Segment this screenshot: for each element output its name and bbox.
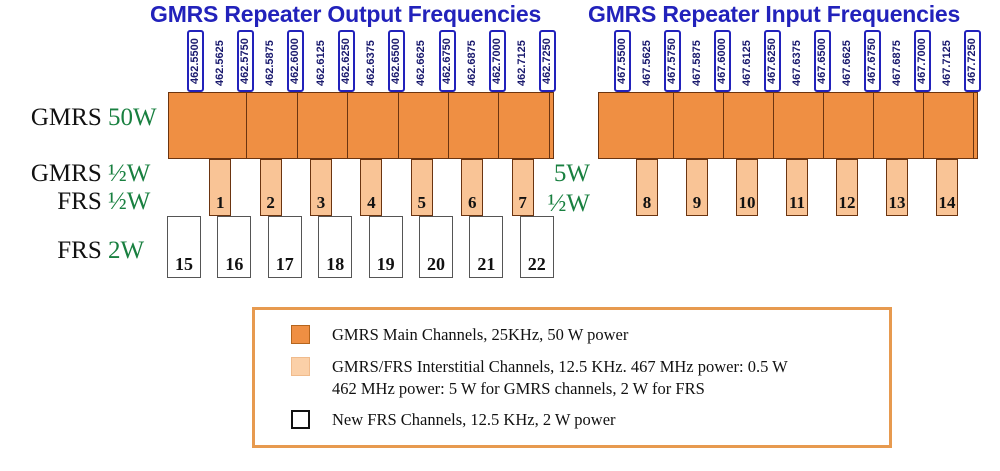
channel-number: 9 (693, 194, 702, 215)
frequency-label-main: 462.6500 (388, 30, 405, 92)
row-label-frs-2w: FRS 2W (0, 237, 160, 265)
channel-number: 16 (225, 255, 243, 277)
row-label-service: GMRS (31, 160, 102, 187)
frequency-label-main: 462.6000 (287, 30, 304, 92)
frequency-label-interstitial: 467.6625 (839, 34, 856, 92)
main-bar-divider (448, 93, 449, 158)
main-bar-divider (297, 93, 298, 158)
frs-channel-box: 20 (419, 216, 453, 278)
row-label-frs-halfw: FRS ½W (0, 188, 160, 216)
interstitial-channel-column: 6 (461, 159, 483, 216)
frequency-label-interstitial: 467.6125 (739, 34, 756, 92)
frs-channel-box: 22 (520, 216, 554, 278)
channel-number: 7 (518, 194, 527, 215)
frequency-label-interstitial: 462.6125 (313, 34, 330, 92)
channel-number: 15 (175, 255, 193, 277)
frequency-label-strip: 462.5500462.5625462.5750462.5875462.6000… (168, 30, 554, 92)
interstitial-channel-column: 12 (836, 159, 858, 216)
channel-number: 11 (789, 194, 805, 215)
channel-number: 12 (839, 194, 856, 215)
legend-label-line1: GMRS/FRS Interstitial Channels, 12.5 KHz… (332, 357, 788, 376)
channel-number: 8 (643, 194, 652, 215)
main-bar-divider (246, 93, 247, 158)
row-label-service: GMRS (31, 104, 102, 131)
interstitial-channel-column: 3 (310, 159, 332, 216)
main-bar-divider (673, 93, 674, 158)
interstitial-channel-column: 10 (736, 159, 758, 216)
frequency-label-interstitial: 462.6875 (464, 34, 481, 92)
interstitial-channel-column: 13 (886, 159, 908, 216)
frequency-label-interstitial: 467.6875 (889, 34, 906, 92)
panel-repeater-input: 467.5500467.5625467.5750467.5875467.6000… (598, 30, 978, 216)
row-label-power: ½W (108, 188, 160, 216)
frequency-label-main: 467.6750 (864, 30, 881, 92)
frequency-label-interstitial: 462.6375 (363, 34, 380, 92)
frs-channel-row: 1516171819202122 (168, 216, 554, 278)
row-label-service: FRS (57, 237, 101, 264)
interstitial-channel-column: 11 (786, 159, 808, 216)
interstitial-channel-column: 4 (360, 159, 382, 216)
legend-item-interstitial: GMRS/FRS Interstitial Channels, 12.5 KHz… (291, 356, 788, 400)
interstitial-channel-column: 1 (209, 159, 231, 216)
frequency-label-interstitial: 462.6625 (413, 34, 430, 92)
main-bar-divider (347, 93, 348, 158)
interstitial-channel-column: 14 (936, 159, 958, 216)
channel-number: 20 (427, 255, 445, 277)
frs-channel-box: 18 (318, 216, 352, 278)
legend-swatch-main-icon (291, 325, 310, 344)
interstitial-channel-column: 7 (512, 159, 534, 216)
legend-label: GMRS Main Channels, 25KHz, 50 W power (332, 324, 628, 346)
row-label-power: ½W (108, 160, 160, 188)
frs-channel-box: 15 (167, 216, 201, 278)
interstitial-channel-column: 9 (686, 159, 708, 216)
frequency-label-main: 462.6750 (439, 30, 456, 92)
frequency-label-main: 467.6500 (814, 30, 831, 92)
channel-number: 21 (477, 255, 495, 277)
panel-repeater-output: 462.5500462.5625462.5750462.5875462.6000… (168, 30, 554, 278)
main-bar-divider (723, 93, 724, 158)
frequency-label-interstitial: 467.6375 (789, 34, 806, 92)
frequency-label-main: 467.7250 (964, 30, 981, 92)
legend-swatch-frs-icon (291, 410, 310, 429)
channel-number: 17 (276, 255, 294, 277)
channel-number: 19 (377, 255, 395, 277)
channel-number: 14 (939, 194, 956, 215)
frequency-label-interstitial: 467.7125 (939, 34, 956, 92)
channel-number: 3 (317, 194, 326, 215)
frequency-label-main: 467.6250 (764, 30, 781, 92)
row-label-power: 2W (108, 237, 160, 265)
main-bar-divider (398, 93, 399, 158)
channel-number: 22 (528, 255, 546, 277)
frequency-label-main: 467.5500 (614, 30, 631, 92)
main-bar-divider (973, 93, 974, 158)
frequency-label-main: 462.5750 (237, 30, 254, 92)
frs-channel-box: 17 (268, 216, 302, 278)
channel-number: 18 (326, 255, 344, 277)
frequency-label-interstitial: 467.5625 (639, 34, 656, 92)
channel-number: 4 (367, 194, 376, 215)
frequency-label-main: 462.7000 (489, 30, 506, 92)
legend-label: GMRS/FRS Interstitial Channels, 12.5 KHz… (332, 356, 788, 400)
legend-swatch-interstitial-icon (291, 357, 310, 376)
frequency-label-main: 467.7000 (914, 30, 931, 92)
frequency-label-main: 462.6250 (338, 30, 355, 92)
channel-number: 5 (418, 194, 427, 215)
main-bar-divider (873, 93, 874, 158)
interstitial-channel-row: 1234567 (168, 159, 554, 216)
interstitial-channel-column: 8 (636, 159, 658, 216)
frequency-label-main: 467.5750 (664, 30, 681, 92)
channel-number: 2 (266, 194, 275, 215)
legend-label: New FRS Channels, 12.5 KHz, 2 W power (332, 409, 616, 431)
main-bar-divider (823, 93, 824, 158)
main-channel-bar (168, 92, 554, 159)
channel-number: 10 (739, 194, 756, 215)
row-label-service: FRS (57, 188, 101, 215)
main-bar-divider (773, 93, 774, 158)
channel-number: 6 (468, 194, 477, 215)
frequency-label-main: 462.5500 (187, 30, 204, 92)
frequency-label-interstitial: 462.7125 (514, 34, 531, 92)
channel-number: 13 (889, 194, 906, 215)
frequency-label-interstitial: 462.5625 (212, 34, 229, 92)
frs-channel-box: 21 (469, 216, 503, 278)
main-channel-bar (598, 92, 978, 159)
main-bar-divider (498, 93, 499, 158)
legend-item-new-frs: New FRS Channels, 12.5 KHz, 2 W power (291, 409, 616, 431)
legend: GMRS Main Channels, 25KHz, 50 W power GM… (252, 307, 892, 448)
legend-label-line2: 462 MHz power: 5 W for GMRS channels, 2 … (332, 379, 705, 398)
frs-channel-box: 19 (369, 216, 403, 278)
frs-channel-box: 16 (217, 216, 251, 278)
main-bar-divider (549, 93, 550, 158)
interstitial-channel-column: 5 (411, 159, 433, 216)
chart-title-output: GMRS Repeater Output Frequencies (150, 1, 541, 28)
frequency-label-interstitial: 467.5875 (689, 34, 706, 92)
row-label-gmrs-50w: GMRS 50W (0, 104, 160, 132)
legend-item-main: GMRS Main Channels, 25KHz, 50 W power (291, 324, 628, 346)
chart-title-input: GMRS Repeater Input Frequencies (588, 1, 960, 28)
main-bar-divider (923, 93, 924, 158)
interstitial-channel-row: 891011121314 (598, 159, 978, 216)
row-label-gmrs-halfw: GMRS ½W (0, 160, 160, 188)
frequency-label-strip: 467.5500467.5625467.5750467.5875467.6000… (598, 30, 978, 92)
row-label-power: 50W (108, 104, 160, 132)
frequency-label-main: 462.7250 (539, 30, 556, 92)
interstitial-channel-column: 2 (260, 159, 282, 216)
frequency-label-interstitial: 462.5875 (262, 34, 279, 92)
channel-number: 1 (216, 194, 225, 215)
frequency-label-main: 467.6000 (714, 30, 731, 92)
